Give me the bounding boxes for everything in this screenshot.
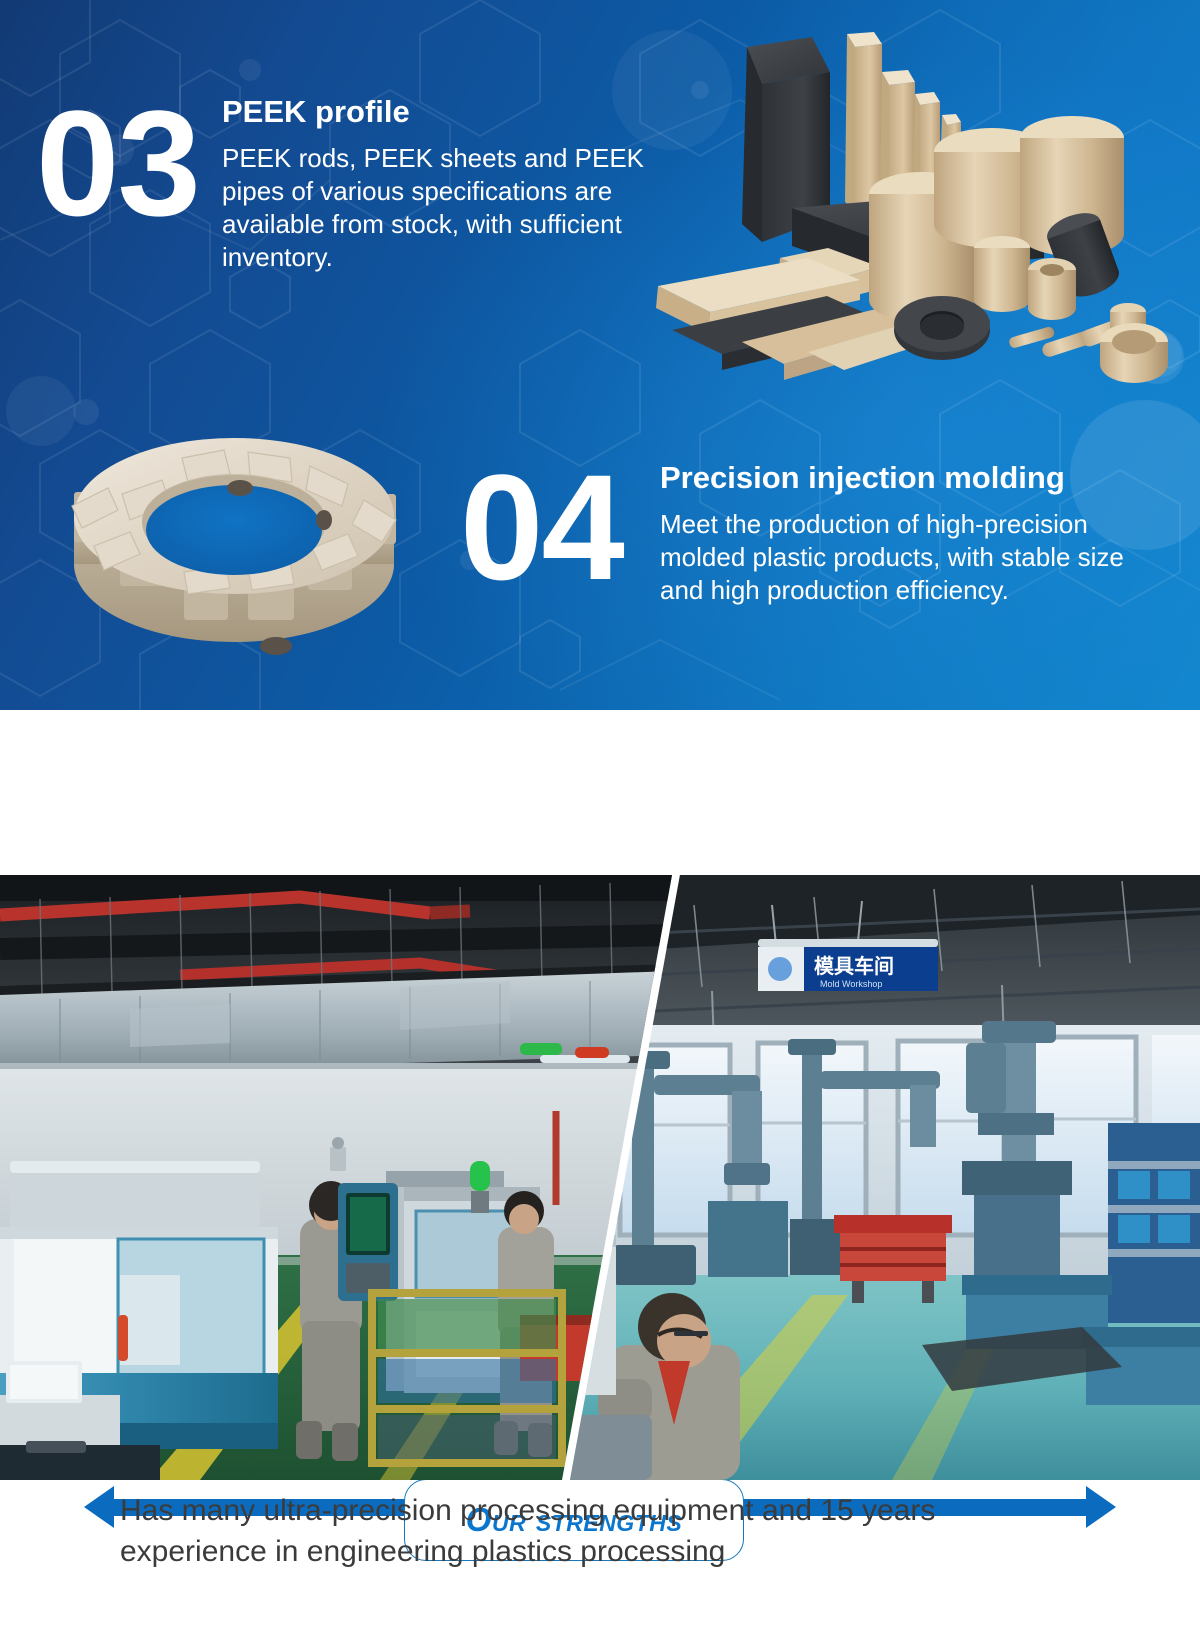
hero-banner: 03 PEEK profile PEEK rods, PEEK sheets a… [0,0,1200,710]
caption-line-2: experience in engineering plastics proce… [120,1531,1200,1572]
feature-number-03: 03 [36,94,199,232]
feature-number-04: 04 [460,458,623,596]
svg-text:模具车间: 模具车间 [814,954,894,978]
feature-body-04: Meet the production of high-precision mo… [660,508,1150,608]
svg-text:Mold Workshop: Mold Workshop [820,979,882,989]
feature-title-04: Precision injection molding [660,460,1150,496]
peek-machined-ring-image [34,396,434,666]
our-strengths-banner: Our strengths [0,710,1200,875]
peek-stock-products-image [612,12,1188,392]
factory-photo-collage: 模具车间 Mold Workshop [0,875,1200,1480]
caption-line-1: Has many ultra-precision processing equi… [120,1490,1200,1531]
photo-cnc-workshop [0,875,672,1480]
bottom-caption: Has many ultra-precision processing equi… [0,1490,1200,1573]
feature-body-03: PEEK rods, PEEK sheets and PEEK pipes of… [222,142,652,275]
feature-title-03: PEEK profile [222,94,652,130]
photo-mold-workshop: 模具车间 Mold Workshop [562,875,1200,1480]
